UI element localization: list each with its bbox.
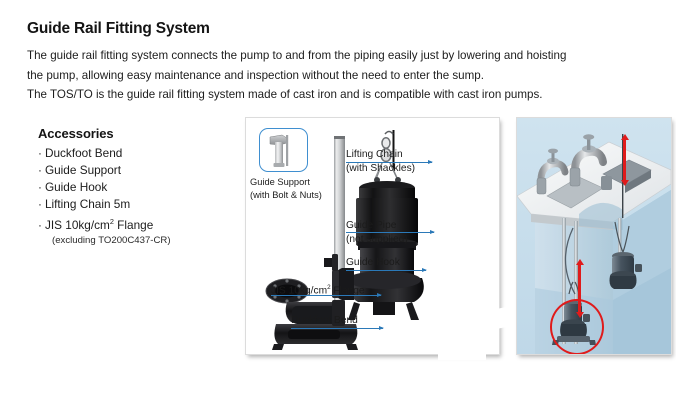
accessories-exclusion-note: (excluding TO200C437-CR) [52,234,228,248]
callout-guide-pipe-line1: Guide Pipe [346,220,396,231]
list-item-label: Duckfoot Bend [45,146,122,160]
intro-line-1: The guide rail fitting system connects t… [27,46,637,66]
leader-line-duckfoot-bend [291,328,383,329]
callout-duckfoot-bend-line1: Duckfoot Bend [291,315,358,326]
bullet-glyph: · [38,146,42,160]
callout-guide-pipe-line2: (not supplied) [346,233,408,247]
list-item-label: Lifting Chain 5m [45,197,130,211]
intro-line-2: the pump, allowing easy maintenance and … [27,66,637,86]
flange-label-prefix: JIS 10kg/cm [45,218,110,232]
installation-scene-panel [516,117,672,355]
intro-line-3: The TOS/TO is the guide rail fitting sys… [27,85,637,105]
leader-line-guide-hook [346,270,426,271]
leader-line-lifting-chain [346,162,432,163]
bullet-glyph: · [38,180,42,194]
list-item-label: Guide Support [45,163,121,177]
bullet-glyph: · [38,163,42,177]
flange-label-suffix: Flange [114,218,153,232]
leader-line-jis-flange [271,295,381,296]
list-item: ·Lifting Chain 5m [38,196,228,213]
leader-line-guide-pipe [346,232,434,233]
callout-guide-hook-line1: Guide Hook [346,257,400,268]
bullet-glyph: · [38,197,42,211]
list-item: ·Duckfoot Bend [38,145,228,162]
intro-paragraphs: The guide rail fitting system connects t… [27,46,637,105]
list-item: ·Guide Hook [38,179,228,196]
callout-guide-hook: Guide Hook [346,256,400,270]
bullet-glyph: · [38,218,42,232]
callout-duckfoot-bend: Duckfoot Bend [291,314,358,328]
list-item-flange: ·JIS 10kg/cm2 Flange [38,213,228,234]
list-item-label: Guide Hook [45,180,107,194]
callout-lifting-chain-line2: (with Shackles) [346,162,415,176]
red-highlight-ellipse [550,299,604,355]
page-title: Guide Rail Fitting System [27,20,210,38]
callout-lifting-chain-line1: Lifting Chain [346,149,403,160]
list-item: ·Guide Support [38,162,228,179]
accessories-section: Accessories ·Duckfoot Bend ·Guide Suppor… [38,126,228,248]
accessories-title: Accessories [38,126,228,141]
red-arrow-upper [623,140,626,180]
